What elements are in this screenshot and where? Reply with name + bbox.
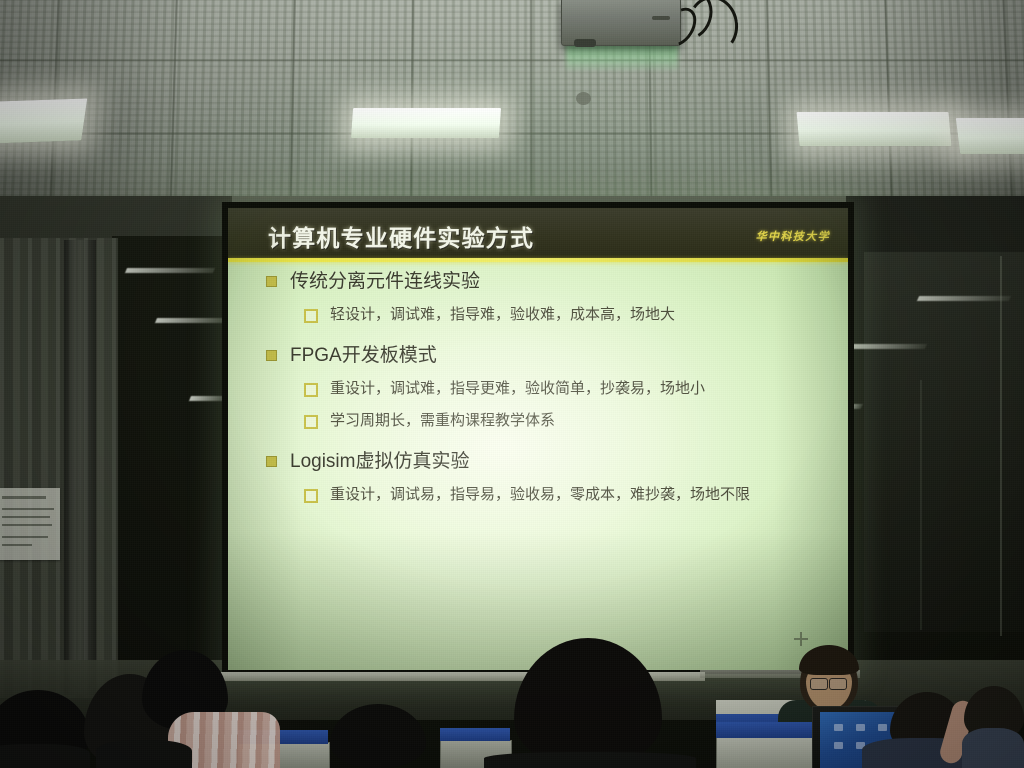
lecture-hall-photo: 计算机专业硬件实验方式 华中科技大学 传统分离元件连线实验 轻设计，调试难，指导…: [0, 0, 1024, 768]
slide-title-rule: [228, 258, 848, 262]
window-frame-seam: [1000, 256, 1002, 636]
bullet-square-filled-icon: [266, 456, 277, 467]
left-curtain: [0, 238, 118, 698]
bullet-group-spacer: [228, 332, 848, 340]
slide-bullet-level2: 轻设计，调试难，指导难，验收难，成本高，场地大: [228, 300, 848, 329]
bullet-square-hollow-icon: [304, 383, 318, 397]
slide-bullet-level1: FPGA开发板模式: [228, 340, 848, 371]
slide-bullet-level1: 传统分离元件连线实验: [228, 266, 848, 297]
slide-body: 传统分离元件连线实验 轻设计，调试难，指导难，验收难，成本高，场地大 FPGA开…: [228, 266, 848, 512]
wall-notice: [0, 488, 60, 560]
projector-lens: [574, 39, 596, 47]
slide-title: 计算机专业硬件实验方式: [268, 219, 534, 253]
window-blind-slat: [125, 268, 215, 273]
screen-bottom-rail: [205, 672, 705, 681]
ceiling-light-panel: [956, 118, 1024, 154]
mouse-cursor-icon: [794, 632, 808, 646]
ceiling-projector: [561, 0, 681, 46]
notice-text-line: [2, 516, 50, 518]
ceiling-sensor-dot: [576, 92, 591, 105]
window-blind-slat: [847, 344, 927, 349]
bullet-text: 传统分离元件连线实验: [290, 271, 480, 292]
window-blind-slat: [155, 318, 229, 323]
ceiling-light-panel: [351, 108, 501, 138]
bullet-text: 学习周期长，需重构课程教学体系: [330, 412, 555, 429]
bullet-square-hollow-icon: [304, 489, 318, 503]
university-logo: 华中科技大学: [756, 228, 830, 244]
notice-text-line: [2, 508, 54, 510]
projection-screen[interactable]: 计算机专业硬件实验方式 华中科技大学 传统分离元件连线实验 轻设计，调试难，指导…: [228, 208, 848, 670]
window-blind-slat: [917, 296, 1011, 301]
bullet-group-spacer: [228, 438, 848, 446]
bullet-square-hollow-icon: [304, 309, 318, 323]
bullet-square-filled-icon: [266, 350, 277, 361]
ceiling-light-panel: [0, 98, 87, 143]
notice-text-line: [2, 524, 52, 526]
window-frame-seam: [920, 380, 922, 630]
bullet-text: 重设计，调试易，指导易，验收易，零成本，难抄袭，场地不限: [330, 486, 750, 503]
bullet-square-filled-icon: [266, 276, 277, 287]
left-curtain-fold: [64, 240, 96, 695]
ceiling: [0, 0, 1024, 209]
left-dark-wall-panel: [112, 236, 232, 676]
bullet-text: 重设计，调试难，指导更难，验收简单，抄袭易，场地小: [330, 380, 705, 397]
bullet-text: Logisim虚拟仿真实验: [290, 451, 469, 472]
screen-bottom-rail: [700, 670, 860, 678]
slide-bullet-level1: Logisim虚拟仿真实验: [228, 446, 848, 477]
ceiling-light-panel: [797, 112, 952, 146]
bullet-square-hollow-icon: [304, 415, 318, 429]
bullet-text: 轻设计，调试难，指导难，验收难，成本高，场地大: [330, 306, 675, 323]
notice-text-line: [2, 544, 32, 546]
ceiling-perspective-shade: [0, 0, 1024, 209]
slide-bullet-level2: 学习周期长，需重构课程教学体系: [228, 406, 848, 435]
bullet-text: FPGA开发板模式: [290, 345, 437, 366]
slide-bullet-level2: 重设计，调试易，指导易，验收易，零成本，难抄袭，场地不限: [228, 480, 848, 509]
notice-text-line: [2, 536, 48, 538]
slide-bullet-level2: 重设计，调试难，指导更难，验收简单，抄袭易，场地小: [228, 374, 848, 403]
notice-heading-line: [2, 496, 46, 499]
